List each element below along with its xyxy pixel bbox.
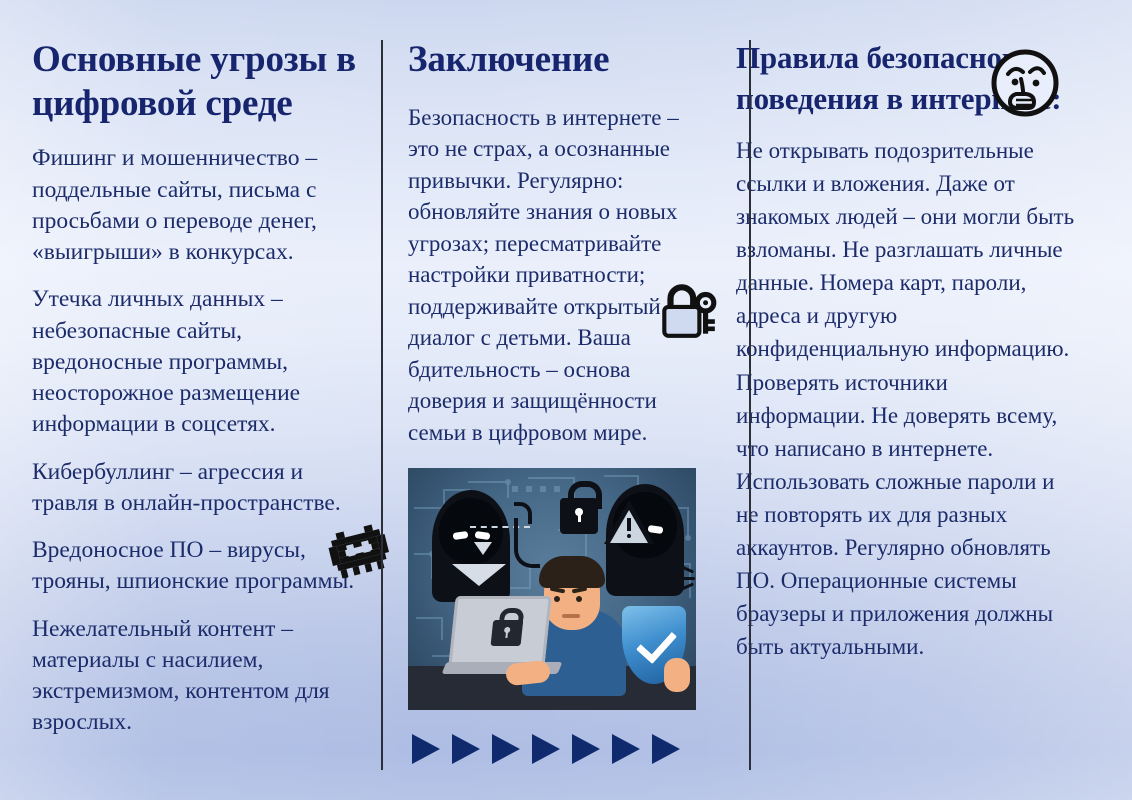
cybersecurity-illustration — [408, 468, 696, 710]
keyhole — [504, 627, 511, 633]
bug-icon — [662, 564, 682, 592]
padlock-icon — [560, 498, 598, 534]
column-threats: Основные угрозы в цифровой среде Фишинг … — [32, 38, 382, 776]
arrow-strip — [408, 734, 696, 764]
user-hand-holding-shield — [664, 658, 690, 692]
hood-icon — [439, 498, 503, 564]
phishing-arrow-icon — [474, 542, 492, 555]
arrow-icon — [532, 734, 560, 764]
envelope-flap — [452, 564, 506, 586]
left-paragraph-cyberbullying: Кибербуллинг – агрессия и травля в онлай… — [32, 457, 364, 520]
middle-column-heading: Заключение — [408, 38, 696, 82]
column-conclusion: Заключение Безопасность в интернете – эт… — [382, 38, 712, 776]
left-paragraph-unwanted-content: Нежелательный контент – материалы с наси… — [32, 614, 364, 739]
arrow-icon — [652, 734, 680, 764]
padlock-key-icon — [654, 278, 720, 344]
middle-paragraph-conclusion: Безопасность в интернете – это не страх,… — [408, 102, 696, 449]
warning-exclamation — [627, 518, 631, 531]
laptop-screen — [448, 596, 552, 668]
column-divider-left — [381, 40, 383, 770]
shush-face-icon — [988, 46, 1062, 120]
bug-leg — [682, 577, 695, 580]
bug-leg — [649, 577, 662, 580]
arrow-icon — [572, 734, 600, 764]
arrow-icon — [492, 734, 520, 764]
keyhole — [575, 508, 583, 516]
column-rules: Правила безопасного поведения в интернет… — [712, 38, 1078, 776]
screen-padlock-icon — [491, 620, 524, 646]
left-paragraph-malware: Вредоносное ПО – вирусы, трояны, шпионск… — [32, 535, 364, 598]
user-mouth — [562, 614, 580, 618]
left-paragraph-data-leak: Утечка личных данных – небезопасные сайт… — [32, 284, 364, 440]
poster-root: Основные угрозы в цифровой среде Фишинг … — [0, 0, 1132, 800]
arrow-icon — [612, 734, 640, 764]
poster-columns: Основные угрозы в цифровой среде Фишинг … — [0, 0, 1132, 800]
column-divider-right — [749, 40, 751, 770]
right-paragraph-rules: Не открывать подозрительные ссылки и вло… — [736, 134, 1078, 664]
left-paragraph-phishing: Фишинг и мошенничество – поддельные сайт… — [32, 143, 364, 268]
left-column-heading: Основные угрозы в цифровой среде — [32, 38, 364, 125]
user-hair — [539, 556, 605, 588]
warning-triangle-icon — [604, 500, 654, 544]
illustration-canvas — [408, 468, 696, 710]
arrow-icon — [412, 734, 440, 764]
arrow-icon — [452, 734, 480, 764]
